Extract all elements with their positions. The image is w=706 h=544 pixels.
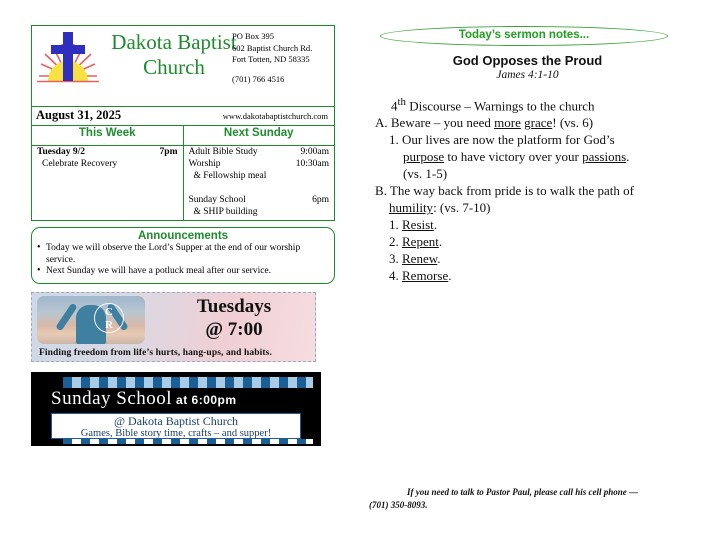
announcements-panel: Announcements Today we will observe the … xyxy=(31,227,335,284)
sermon-keyword: Resist xyxy=(402,217,434,232)
sermon-text: Discourse – Warnings to the church xyxy=(406,98,595,113)
sermon-keyword: grace xyxy=(524,115,552,130)
sermon-text: : (vs. 7-10) xyxy=(433,200,490,215)
event-name: Adult Bible Study xyxy=(189,146,258,158)
bulletin-date: August 31, 2025 xyxy=(36,108,121,123)
event-name: Tuesday 9/2 xyxy=(37,146,85,158)
announcement-item: Next Sunday we will have a potluck meal … xyxy=(37,266,329,278)
cr-title-line2: @ 7:00 xyxy=(154,318,314,341)
sermon-outline-line: humility: (vs. 7-10) xyxy=(375,199,680,216)
celebrate-recovery-banner: C R Tuesdays @ 7:00 Finding freedom from… xyxy=(31,292,316,362)
event-name: Sunday School xyxy=(189,194,246,206)
sunday-school-details-box: @ Dakota Baptist Church Games, Bible sto… xyxy=(51,413,301,439)
sermon-outline-line: 4. Remorse. xyxy=(375,267,680,284)
sermon-keyword: purpose xyxy=(403,149,444,164)
church-website: www.dakotabaptistchurch.com xyxy=(223,111,328,121)
church-po-box: PO Box 395 xyxy=(232,31,336,43)
sermon-outline-line: A. Beware – you need more grace! (vs. 6) xyxy=(375,114,680,131)
sermon-outline: 4th Discourse – Warnings to the churchA.… xyxy=(375,94,680,284)
schedule-body-row: Tuesday 9/2 7pm Celebrate Recovery Adult… xyxy=(32,146,335,221)
cr-title-line1: Tuesdays xyxy=(154,295,314,318)
event-name: Worship xyxy=(189,158,221,170)
event-time: 6pm xyxy=(312,194,329,206)
celebrate-recovery-logo-icon: C R xyxy=(94,303,124,333)
cr-logo-letter-c: C xyxy=(95,306,123,319)
sermon-notes-banner: Today’s sermon notes... xyxy=(375,26,680,48)
celebrate-recovery-photo xyxy=(37,296,145,344)
footer-pastor-contact: If you need to talk to Pastor Paul, plea… xyxy=(369,486,679,512)
sermon-text: 1. Our lives are now the platform for Go… xyxy=(389,132,615,147)
sermon-keyword: Renew xyxy=(402,251,437,266)
schedule-event: Tuesday 9/2 7pm xyxy=(32,146,183,158)
sunday-school-title-text: Sunday School xyxy=(51,388,172,409)
figure-arm-left xyxy=(55,302,78,331)
church-city-state-zip: Fort Totten, ND 58335 xyxy=(232,54,336,66)
sermon-text: to have victory over your xyxy=(444,149,582,164)
sermon-outline-line: B. The way back from pride is to walk th… xyxy=(375,182,680,199)
sunday-school-title: Sunday Schoolat 6:00pm xyxy=(51,388,237,411)
event-name: & Fellowship meal xyxy=(194,170,267,182)
footer-line2: (701) 350-8093. xyxy=(369,499,679,512)
sermon-text: . xyxy=(626,149,629,164)
schedule-event: Adult Bible Study 9:00am xyxy=(184,146,335,158)
schedule-cell-next-sunday: Adult Bible Study 9:00am Worship 10:30am… xyxy=(183,146,335,221)
church-contact-block: PO Box 395 602 Baptist Church Rd. Fort T… xyxy=(232,31,336,85)
sermon-keyword: Repent xyxy=(402,234,439,249)
bulletin-left-column: Dakota Baptist Church PO Box 395 602 Bap… xyxy=(31,25,335,446)
sermon-text: B. The way back from pride is to walk th… xyxy=(375,183,634,198)
cr-logo-letter-r: R xyxy=(95,319,123,332)
schedule-event: & SHIP building xyxy=(184,206,335,218)
event-name: Celebrate Recovery xyxy=(42,158,117,170)
sermon-text: ! (vs. 6) xyxy=(552,115,593,130)
footer-line1: If you need to talk to Pastor Paul, plea… xyxy=(369,486,679,499)
schedule-header-row: This Week Next Sunday xyxy=(32,126,335,146)
sunday-school-time: at 6:00pm xyxy=(176,393,237,407)
schedule-event: & Fellowship meal xyxy=(184,170,335,182)
sermon-outline-line: 1. Resist. xyxy=(375,216,680,233)
sermon-keyword: more xyxy=(494,115,521,130)
sermon-keyword: passions xyxy=(582,149,626,164)
celebrate-recovery-title: Tuesdays @ 7:00 xyxy=(154,295,314,341)
sermon-text: 2. xyxy=(389,234,402,249)
schedule-header-this-week: This Week xyxy=(32,126,184,146)
schedule-event: Celebrate Recovery xyxy=(32,158,183,170)
sermon-outline-line: (vs. 1-5) xyxy=(375,165,680,182)
sermon-text: . xyxy=(434,217,437,232)
schedule-cell-this-week: Tuesday 9/2 7pm Celebrate Recovery xyxy=(32,146,184,221)
sermon-text: 4. xyxy=(389,268,402,283)
sermon-outline-line: 1. Our lives are now the platform for Go… xyxy=(375,131,680,148)
announcement-item: Today we will observe the Lord’s Supper … xyxy=(37,243,329,266)
sermon-text: (vs. 1-5) xyxy=(403,166,447,181)
church-phone: (701) 766 4516 xyxy=(232,74,336,86)
sunday-school-banner: Sunday Schoolat 6:00pm @ Dakota Baptist … xyxy=(31,372,321,446)
sermon-text: . xyxy=(439,234,442,249)
schedule-spacer xyxy=(184,182,335,194)
event-time: 7pm xyxy=(160,146,178,158)
sermon-title: God Opposes the Proud xyxy=(375,53,680,68)
sunday-school-church: @ Dakota Baptist Church xyxy=(52,414,300,428)
sermon-text: 3. xyxy=(389,251,402,266)
event-time: 10:30am xyxy=(296,158,329,170)
sermon-text: . xyxy=(448,268,451,283)
sermon-notes-column: Today’s sermon notes... God Opposes the … xyxy=(375,26,680,284)
stripe-pattern-bottom xyxy=(63,439,313,444)
sermon-keyword: humility xyxy=(389,200,433,215)
sermon-outline-line: 4th Discourse – Warnings to the church xyxy=(375,94,680,114)
sermon-text: . xyxy=(437,251,440,266)
schedule-event: Worship 10:30am xyxy=(184,158,335,170)
sermon-notes-label: Today’s sermon notes... xyxy=(375,29,673,41)
stripe-pattern-top xyxy=(63,377,313,388)
schedule-event: Sunday School 6pm xyxy=(184,194,335,206)
church-street: 602 Baptist Church Rd. xyxy=(232,43,336,55)
sermon-outline-line: purpose to have victory over your passio… xyxy=(375,148,680,165)
celebrate-recovery-tagline: Finding freedom from life’s hurts, hang-… xyxy=(39,348,272,358)
sermon-keyword: Remorse xyxy=(402,268,448,283)
schedule-table: This Week Next Sunday Tuesday 9/2 7pm Ce… xyxy=(31,125,335,221)
event-name: & SHIP building xyxy=(194,206,258,218)
sermon-text: A. Beware – you need xyxy=(375,115,494,130)
sermon-scripture-reference: James 4:1-10 xyxy=(375,69,680,81)
announcements-title: Announcements xyxy=(37,230,329,242)
sermon-outline-line: 2. Repent. xyxy=(375,233,680,250)
sermon-text: th xyxy=(398,96,406,108)
event-time: 9:00am xyxy=(301,146,330,158)
sermon-text: 1. xyxy=(389,217,402,232)
masthead: Dakota Baptist Church PO Box 395 602 Bap… xyxy=(31,25,335,107)
schedule-header-next-sunday: Next Sunday xyxy=(183,126,335,146)
sermon-outline-line: 3. Renew. xyxy=(375,250,680,267)
date-row: August 31, 2025 www.dakotabaptistchurch.… xyxy=(31,107,335,125)
